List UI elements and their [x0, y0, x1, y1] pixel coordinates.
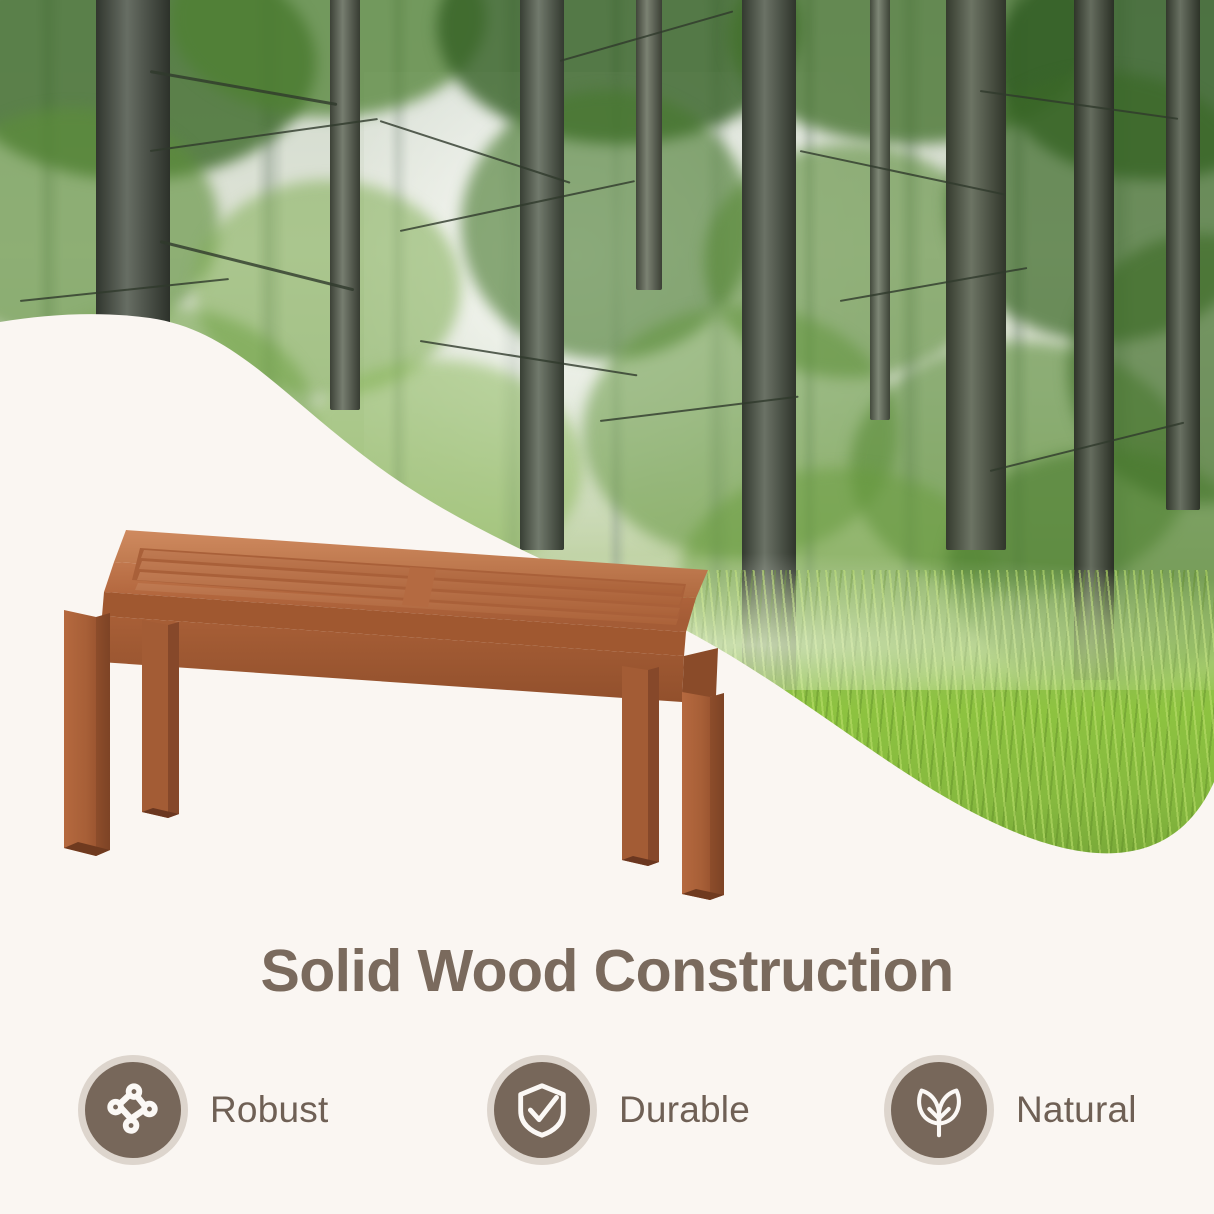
molecule-nodes-icon	[85, 1062, 181, 1158]
product-feature-banner: Solid Wood Construction	[0, 0, 1214, 1214]
wooden-bench-product	[18, 470, 778, 920]
feature-list: Robust Durable	[0, 1043, 1214, 1183]
feature-item-natural: Natural	[884, 1043, 1137, 1177]
feature-item-robust: Robust	[78, 1043, 328, 1177]
leg-front-right	[682, 692, 710, 900]
page-title: Solid Wood Construction	[0, 937, 1214, 1005]
feature-icon-wrapper	[78, 1055, 188, 1165]
leg-back-left	[142, 620, 168, 818]
leg-back-right	[622, 666, 648, 866]
leg-front-left	[64, 610, 96, 856]
feature-label: Natural	[1016, 1089, 1137, 1131]
feature-item-durable: Durable	[487, 1043, 750, 1177]
shield-check-icon	[494, 1062, 590, 1158]
feature-label: Durable	[619, 1089, 750, 1131]
feature-icon-wrapper	[487, 1055, 597, 1165]
two-leaves-icon	[891, 1062, 987, 1158]
feature-icon-wrapper	[884, 1055, 994, 1165]
feature-label: Robust	[210, 1089, 328, 1131]
